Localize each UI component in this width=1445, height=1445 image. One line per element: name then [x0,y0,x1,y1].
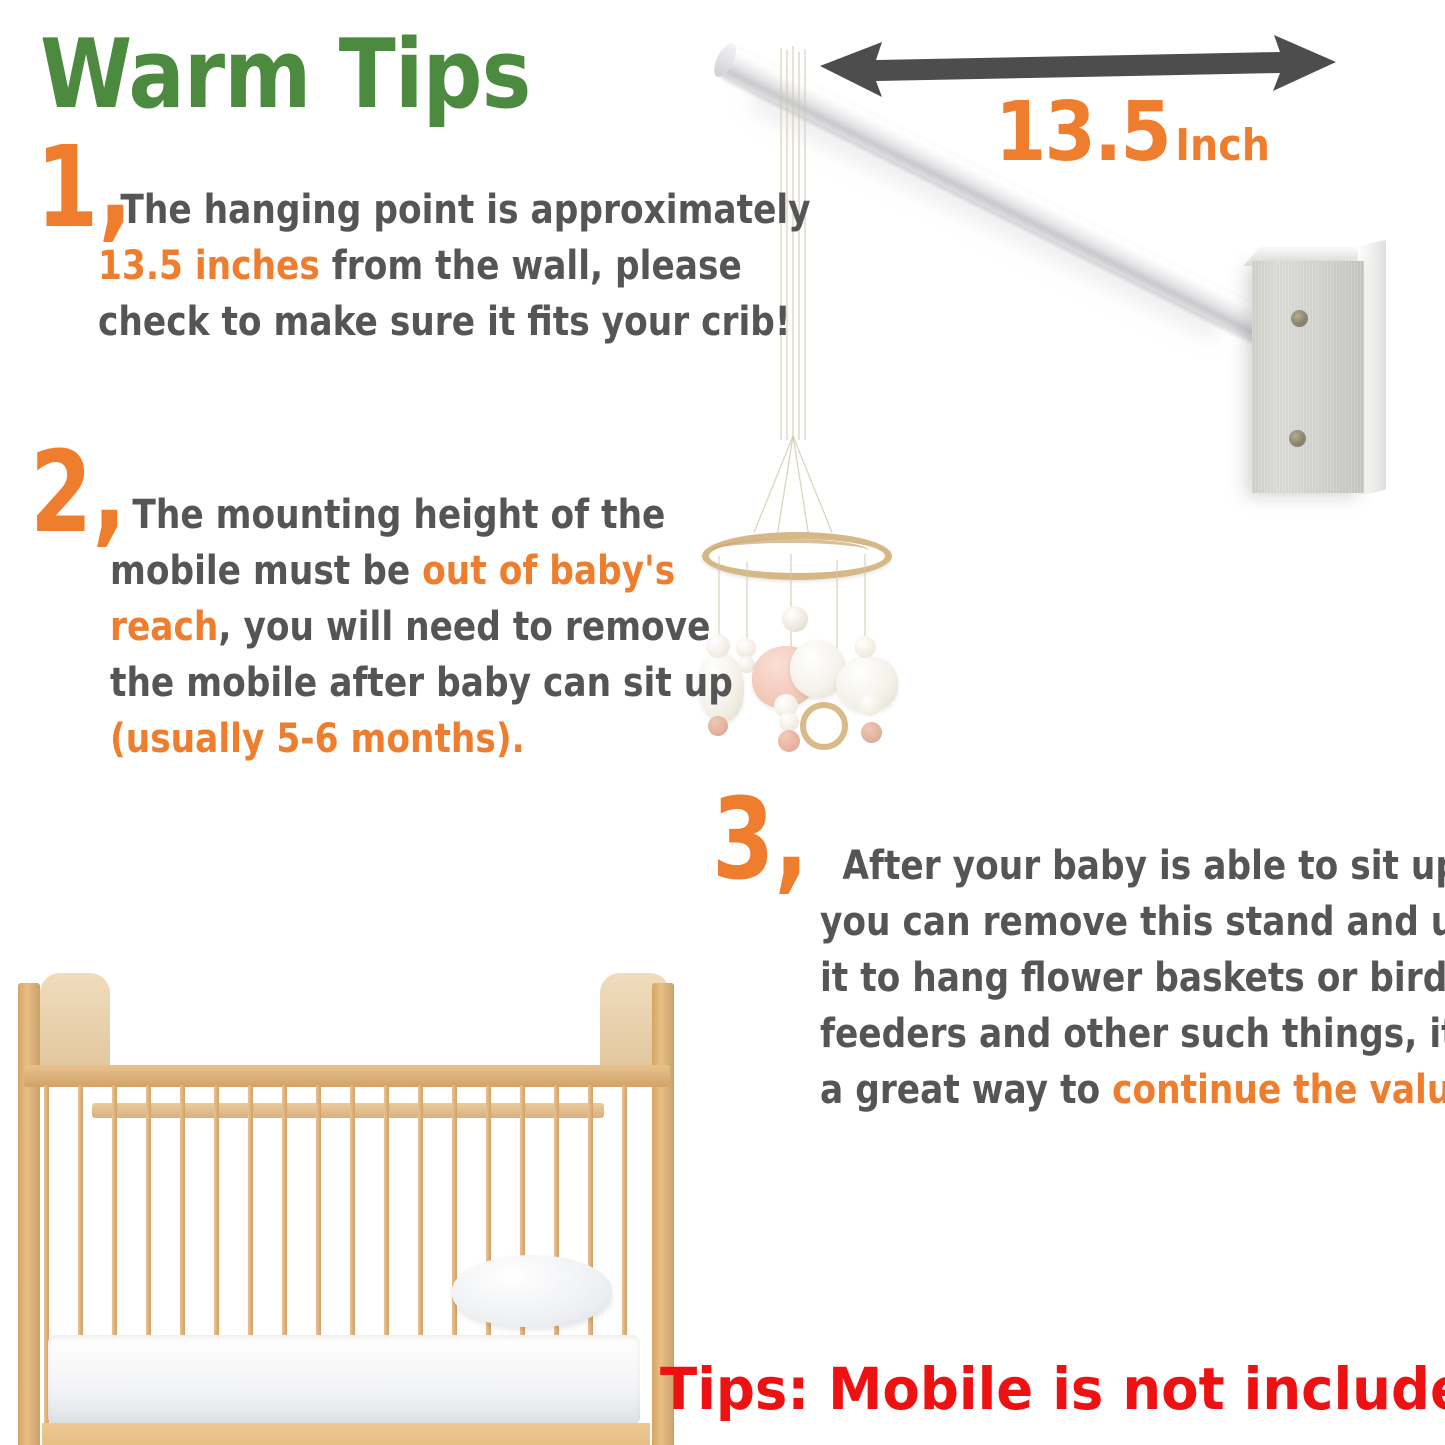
mobile-bead [854,636,876,658]
mobile-not-included-note: Tips: Mobile is not included [660,1358,1445,1420]
tip-1-segment-1: 13.5 inches [98,243,332,289]
mobile-bead [779,712,799,732]
bracket-screw-bottom [1289,430,1306,447]
tip-1-text: The hanging point is approximately 13.5 … [98,182,855,350]
crib-headboard-left [40,973,110,1069]
ring-string [792,436,833,533]
crib-pillow [452,1255,612,1327]
tip-2-text: The mounting height of the mobile must b… [110,487,764,767]
crib-inner-rail [92,1103,604,1118]
charm-string [790,554,792,650]
wall-mounting-bracket [1252,261,1364,493]
crib-apron-panel [42,1423,650,1445]
mobile-bead [859,694,881,716]
crib-mattress [48,1335,640,1425]
mobile-wooden-ring-small [800,702,848,750]
mobile-bead-pink [861,722,882,743]
ring-string [792,436,810,539]
page-title: Warm Tips [40,28,530,123]
mobile-bead-pink [778,730,800,752]
tip-1-segment-0: The hanging point is approximately [120,187,810,233]
wooden-baby-crib [0,955,700,1445]
tip-3-text: After your baby is able to sit up you ca… [820,838,1445,1118]
bracket-screw-top [1291,310,1308,327]
tip-2-segment-3: (usually 5-6 months). [110,716,525,762]
crib-post-left [18,983,40,1445]
crib-top-rail [24,1065,670,1087]
tip-3-segment-1: continue the value. [1112,1067,1445,1113]
infographic-canvas: Warm Tips 13.5Inch [0,0,1445,1445]
tip-3-number: 3, [712,792,808,888]
mobile-bead [782,606,808,632]
